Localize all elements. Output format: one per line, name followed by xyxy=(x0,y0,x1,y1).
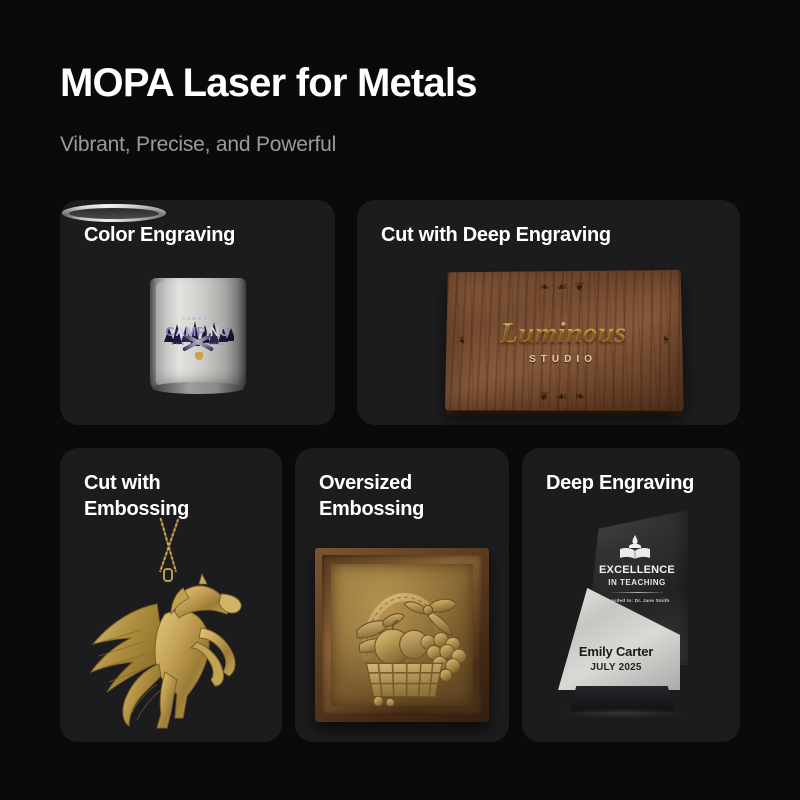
card-media-plaque: ❧ ☙ ❦ ☙ ☙ Luminous STUDIO ❦ ☙ ❧ xyxy=(357,200,740,425)
plaque-sub-text: STUDIO xyxy=(446,354,683,366)
award-trophy-illustration: EXCELLENCE IN TEACHING Awarded to: Dr. J… xyxy=(544,510,719,728)
page-subtitle: Vibrant, Precise, and Powerful xyxy=(60,133,336,157)
card-oversized-embossing[interactable]: Oversized Embossing xyxy=(295,448,509,742)
award-heading-line2: IN TEACHING xyxy=(588,578,686,587)
award-divider xyxy=(610,592,666,593)
ornament-bottom-icon: ❦ ☙ ❧ xyxy=(539,390,587,402)
relief-panel xyxy=(331,564,473,706)
wood-plaque-illustration: ❧ ☙ ❦ ☙ ☙ Luminous STUDIO ❦ ☙ ❧ xyxy=(445,270,681,410)
mug-brand-word: CAMPING xyxy=(162,324,234,339)
card-media-pendant xyxy=(60,448,282,742)
mug-base xyxy=(152,382,244,394)
pegasus-icon xyxy=(71,568,271,733)
plaque-engraving: ❧ ☙ ❦ ☙ ☙ Luminous STUDIO ❦ ☙ ❧ xyxy=(445,270,684,411)
card-media-award: EXCELLENCE IN TEACHING Awarded to: Dr. J… xyxy=(522,448,740,742)
fruit-basket-icon xyxy=(331,564,473,706)
wooden-frame xyxy=(315,548,489,722)
page-root: MOPA Laser for Metals Vibrant, Precise, … xyxy=(0,0,800,800)
mug-artwork: SUMMER CAMPING WILD · OUTDOORS xyxy=(162,298,234,364)
plaque-script-text: Luminous xyxy=(446,316,682,350)
award-date: JULY 2025 xyxy=(564,662,668,673)
ornament-top-icon: ❧ ☙ ❦ xyxy=(540,281,587,293)
mug-rim-inner xyxy=(69,208,159,219)
pegasus-pendant-illustration xyxy=(71,510,271,735)
camping-mug-illustration: SUMMER CAMPING WILD · OUTDOORS xyxy=(144,268,252,400)
card-color-engraving[interactable]: Color Engraving SUMMER xyxy=(60,200,335,425)
card-media-mug: SUMMER CAMPING WILD · OUTDOORS xyxy=(60,200,335,425)
emblem-icon xyxy=(195,352,203,360)
plaque-face: ❧ ☙ ❦ ☙ ☙ Luminous STUDIO ❦ ☙ ❧ xyxy=(445,270,684,411)
award-recipient-name: Emily Carter xyxy=(564,644,668,659)
mug-top-word: SUMMER xyxy=(162,316,234,321)
fruit-basket-relief-illustration xyxy=(315,548,489,722)
award-shadow xyxy=(558,708,686,718)
book-person-icon xyxy=(618,534,652,560)
mug-bottom-word: WILD · OUTDOORS xyxy=(162,342,234,346)
award-heading-line1: EXCELLENCE xyxy=(588,564,686,576)
card-media-relief xyxy=(295,448,509,742)
page-title: MOPA Laser for Metals xyxy=(60,60,477,106)
card-deep-engraving[interactable]: Deep Engraving EXCELLENCE IN TEACHING Aw… xyxy=(522,448,740,742)
card-cut-with-deep-engraving[interactable]: Cut with Deep Engraving ❧ ☙ ❦ ☙ ☙ Lumino… xyxy=(357,200,740,425)
card-cut-with-embossing[interactable]: Cut with Embossing xyxy=(60,448,282,742)
